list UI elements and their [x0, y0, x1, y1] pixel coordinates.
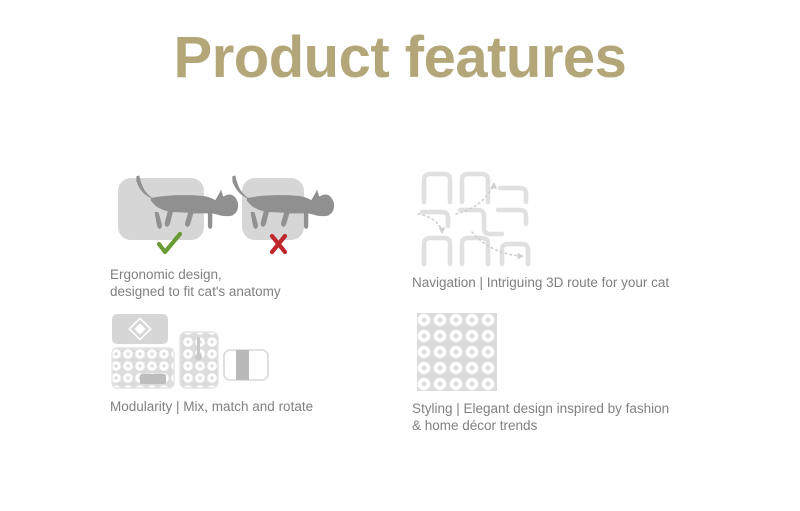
- panel-solid-diamond: [112, 314, 168, 344]
- feature-caption-modularity: Modularity | Mix, match and rotate: [110, 398, 410, 415]
- module-route-grid-icon: [416, 168, 546, 268]
- feature-ergonomic: Ergonomic design, designed to fit cat's …: [110, 168, 410, 300]
- feature-caption-navigation: Navigation | Intriguing 3D route for you…: [412, 274, 742, 291]
- panel-white-bar: [224, 350, 268, 380]
- feature-grid: Ergonomic design, designed to fit cat's …: [0, 160, 800, 460]
- feature-caption-ergonomic: Ergonomic design, designed to fit cat's …: [110, 266, 410, 300]
- page-title: Product features: [0, 26, 800, 90]
- lattice-pattern-icon: [416, 312, 498, 392]
- modular-panels-icon: [110, 312, 270, 390]
- panel-pattern-wide: [112, 348, 174, 388]
- panel-pattern-tall: [180, 332, 218, 388]
- feature-styling: Styling | Elegant design inspired by fas…: [412, 312, 742, 434]
- feature-modularity: Modularity | Mix, match and rotate: [110, 312, 410, 415]
- feature-caption-styling: Styling | Elegant design inspired by fas…: [412, 400, 742, 434]
- cat-fit-comparison-icon: [110, 168, 340, 260]
- feature-navigation: Navigation | Intriguing 3D route for you…: [412, 168, 742, 291]
